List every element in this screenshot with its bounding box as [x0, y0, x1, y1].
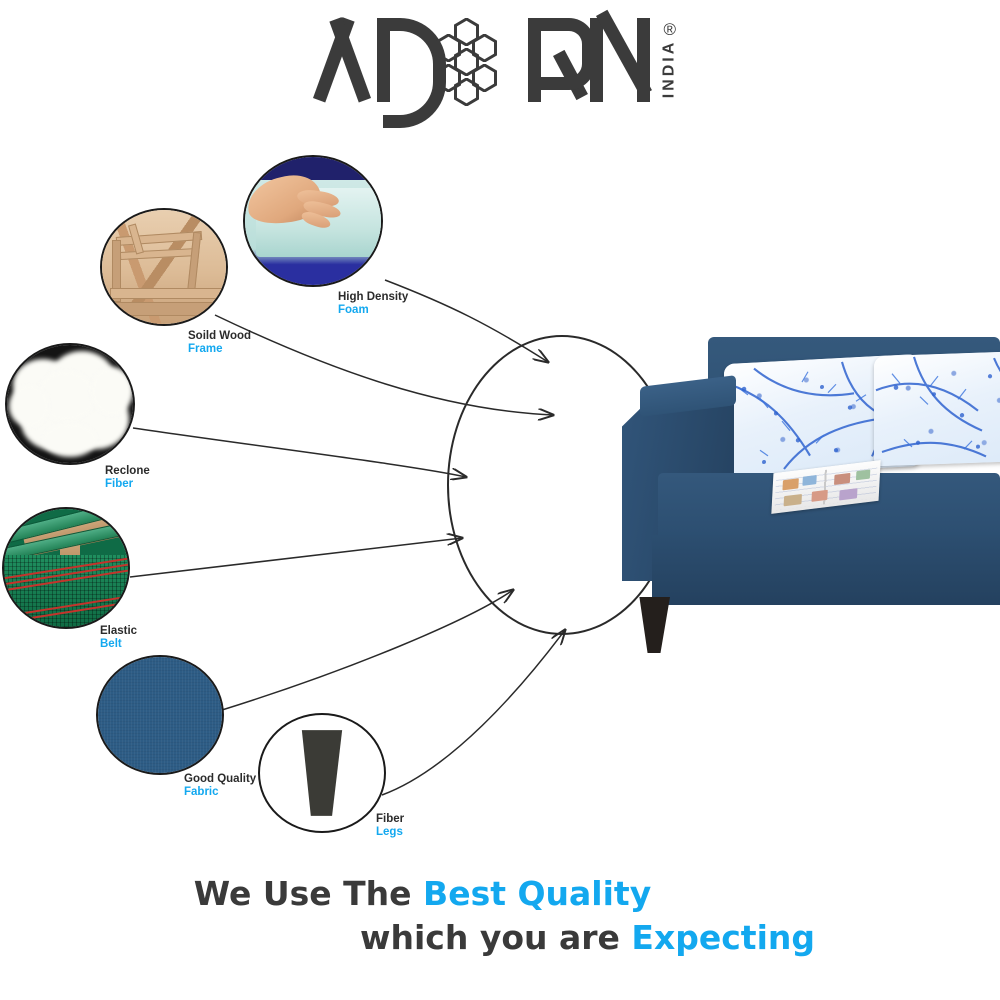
- solid-wood-frame-image: [100, 208, 228, 326]
- callout-good-quality-fabric[interactable]: Good Quality Fabric: [96, 655, 224, 775]
- callout-elastic-belt[interactable]: Elastic Belt: [2, 507, 130, 629]
- logo-india-mark: ® INDIA: [656, 18, 690, 110]
- honeycomb-icon: [436, 18, 522, 104]
- good-quality-fabric-label: Good Quality Fabric: [184, 773, 256, 799]
- good-quality-fabric-image: [96, 655, 224, 775]
- arrow-legs: [382, 630, 565, 795]
- high-density-foam-label: High Density Foam: [338, 291, 408, 317]
- tagline: We Use The Best Quality which you are Ex…: [0, 872, 1000, 960]
- logo-letter-r: [525, 18, 584, 117]
- callout-reclone-fiber[interactable]: Reclone Fiber: [5, 343, 135, 465]
- tagline-line-1-highlight: Best Quality: [423, 874, 651, 913]
- infographic-page: ® INDIA: [0, 0, 1000, 1000]
- tagline-line-2-highlight: Expecting: [631, 918, 815, 957]
- logo-country-label: INDIA: [660, 40, 678, 99]
- sofa-cushion-right: [874, 350, 1000, 467]
- logo-letter-a: [311, 18, 373, 113]
- logo-letter-d: [373, 18, 433, 117]
- tagline-line-2: which you are Expecting: [0, 916, 1000, 960]
- sofa-leg: [636, 597, 670, 653]
- sofa-base: [652, 535, 1000, 605]
- solid-wood-frame-label: Soild Wood Frame: [188, 330, 251, 356]
- callout-high-density-foam[interactable]: High Density Foam: [243, 155, 383, 287]
- elastic-belt-image: [2, 507, 130, 629]
- callout-fiber-legs[interactable]: Fiber Legs: [258, 713, 386, 833]
- arrow-fiber: [133, 428, 466, 477]
- fiber-legs-label: Fiber Legs: [376, 813, 404, 839]
- fiber-legs-image: [258, 713, 386, 833]
- tagline-line-2-plain: which you are: [360, 918, 631, 957]
- registered-trademark-icon: ®: [664, 20, 677, 40]
- arrow-belt: [130, 538, 462, 577]
- reclone-fiber-label: Reclone Fiber: [105, 465, 150, 491]
- high-density-foam-image: [243, 155, 383, 287]
- logo-letter-n: [584, 18, 650, 117]
- tagline-line-1-plain: We Use The: [194, 874, 423, 913]
- callout-solid-wood-frame[interactable]: Soild Wood Frame: [100, 208, 228, 326]
- arrow-fabric: [222, 590, 513, 710]
- reclone-fiber-image: [5, 343, 135, 465]
- feature-diagram: Soild Wood Frame High Density Foam: [0, 130, 1000, 870]
- brand-logo: ® INDIA: [0, 18, 1000, 117]
- tagline-line-1: We Use The Best Quality: [0, 872, 1000, 916]
- product-sofa-image: [600, 325, 1000, 655]
- elastic-belt-label: Elastic Belt: [100, 625, 137, 651]
